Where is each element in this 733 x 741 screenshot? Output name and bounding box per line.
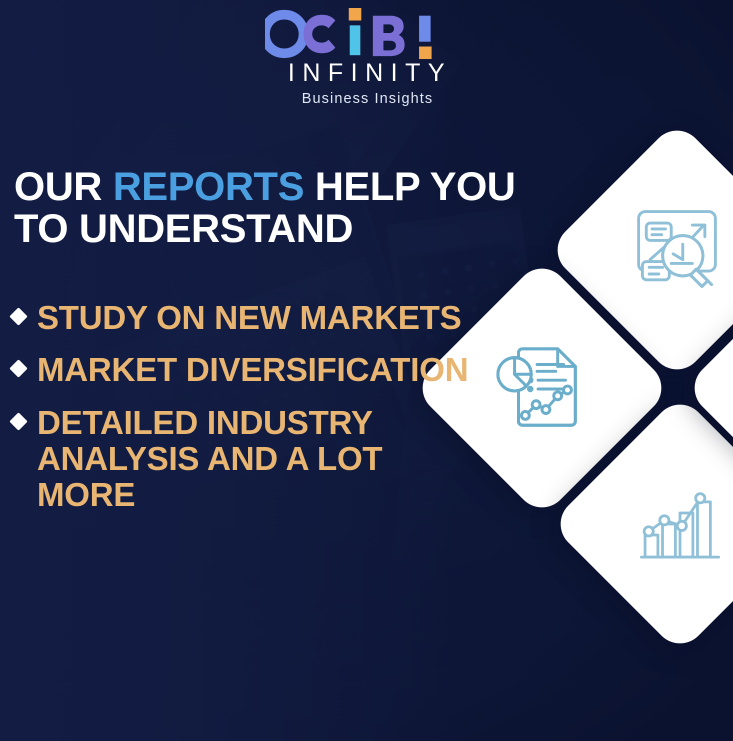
brand-logo: INFINITY Business Insights <box>0 8 733 107</box>
page-title: OUR REPORTS HELP YOU TO UNDERSTAND <box>14 166 614 251</box>
list-item: DETAILED INDUSTRY ANALYSIS AND A LOT MOR… <box>8 405 478 514</box>
list-item: MARKET DIVERSIFICATION <box>8 352 478 388</box>
bar-chart-growth-icon <box>634 478 726 570</box>
market-research-magnifier-icon <box>629 202 725 298</box>
list-item-label: MARKET DIVERSIFICATION <box>37 352 468 388</box>
headline-line1-before: OUR <box>14 165 113 209</box>
diamond-bullet-icon <box>9 412 27 430</box>
brand-name: INFINITY <box>281 61 452 86</box>
diamond-bullet-icon <box>9 360 27 378</box>
list-item-label: STUDY ON NEW MARKETS <box>37 300 461 336</box>
promotional-poster: INFINITY Business Insights OUR REPORTS H… <box>0 0 733 741</box>
benefits-list: STUDY ON NEW MARKETS MARKET DIVERSIFICAT… <box>8 300 478 529</box>
headline-highlight: REPORTS <box>113 165 304 209</box>
headline-line2: TO UNDERSTAND <box>14 207 353 251</box>
infinity-ibi-logo-icon <box>265 8 467 60</box>
report-document-chart-icon <box>493 339 591 437</box>
list-item: STUDY ON NEW MARKETS <box>8 300 478 336</box>
list-item-label: DETAILED INDUSTRY ANALYSIS AND A LOT MOR… <box>37 405 478 514</box>
brand-tagline: Business Insights <box>300 92 434 107</box>
diamond-bullet-icon <box>9 307 27 325</box>
headline-line1-after: HELP YOU <box>304 165 515 209</box>
